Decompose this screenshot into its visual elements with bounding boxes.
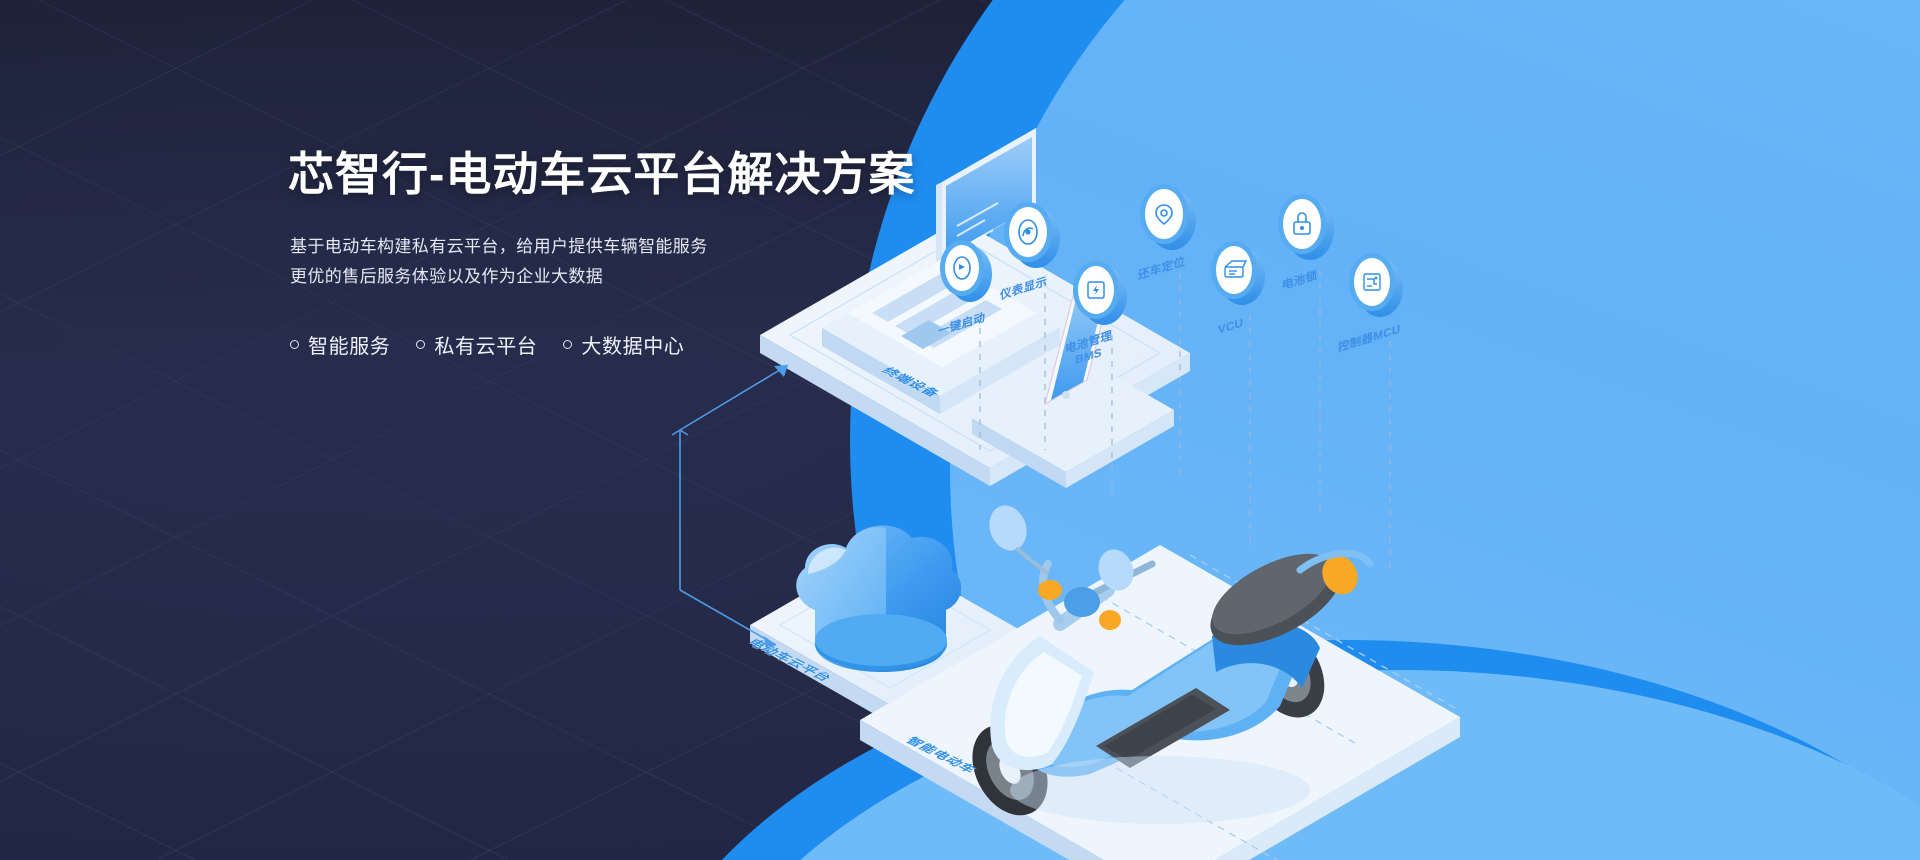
circle-outline-icon — [563, 340, 572, 349]
banner-stage: 芯智行-电动车云平台解决方案 基于电动车构建私有云平台，给用户提供车辆智能服务 … — [0, 0, 1920, 860]
illustration-svg — [760, 150, 1920, 850]
isometric-illustration: 终端设备 电动车云平台 智能电动车 — [760, 150, 1920, 850]
cloud-icon — [796, 525, 961, 672]
bullet-label: 智能服务 — [308, 330, 390, 359]
circle-outline-icon — [290, 340, 299, 349]
bullet-label: 大数据中心 — [581, 330, 684, 359]
circle-outline-icon — [416, 340, 425, 349]
bullet-item-2[interactable]: 大数据中心 — [563, 330, 684, 359]
platform-terminal-devices[interactable] — [760, 128, 1190, 488]
bullet-label: 私有云平台 — [434, 330, 537, 359]
bullet-item-1[interactable]: 私有云平台 — [416, 330, 537, 359]
bullet-item-0[interactable]: 智能服务 — [290, 330, 390, 359]
